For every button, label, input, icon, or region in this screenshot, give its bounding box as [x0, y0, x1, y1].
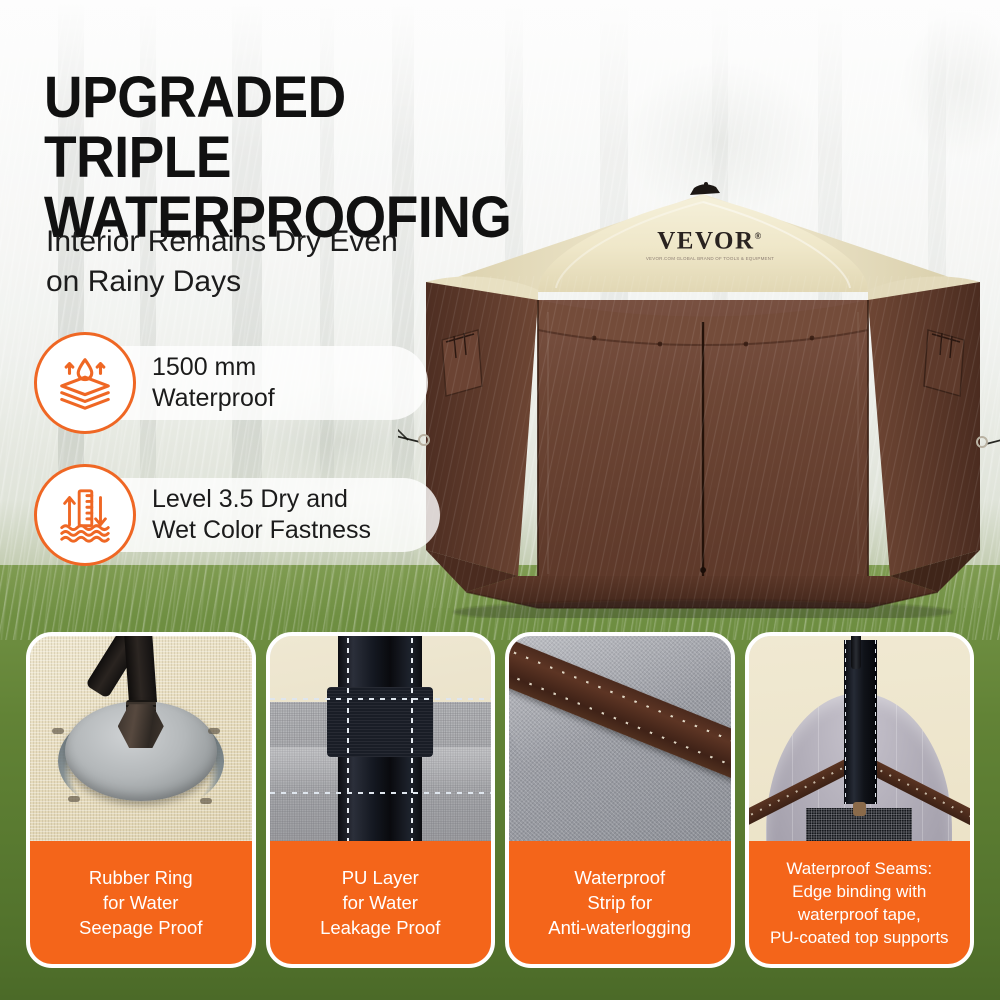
stitch-seam-horizontal	[270, 792, 492, 794]
detail-panel: PU Layer for Water Leakage Proof	[266, 632, 496, 968]
panel-1-caption-line-1: Rubber Ring	[79, 865, 202, 890]
badge-1-line-1: 1500 mm	[152, 352, 275, 383]
page-subtitle: Interior Remains Dry Even on Rainy Days	[46, 222, 466, 302]
panel-3-caption-line-2: Strip for	[548, 890, 691, 915]
marketing-image: VEVOR® VEVOR.COM GLOBAL BRAND OF TOOLS &…	[0, 0, 1000, 1000]
panel-3-caption-line-1: Waterproof	[548, 865, 691, 890]
sleeve-stitch	[875, 640, 877, 804]
detail-panel-caption: PU Layer for Water Leakage Proof	[270, 841, 492, 964]
detail-panel-caption: Waterproof Seams: Edge binding with wate…	[749, 841, 971, 964]
detail-panel-caption: Rubber Ring for Water Seepage Proof	[30, 841, 252, 964]
feature-badge-color-fastness-text: Level 3.5 Dry and Wet Color Fastness	[152, 484, 371, 546]
panel-4-caption-line-1: Waterproof Seams:	[770, 857, 949, 880]
headline-line-1: UPGRADED TRIPLE	[44, 68, 541, 188]
subtitle-line-2: on Rainy Days	[46, 262, 466, 302]
fabric-stitch	[208, 728, 220, 734]
panel-2-caption-line-1: PU Layer	[320, 865, 440, 890]
panel-1-caption-line-3: Seepage Proof	[79, 915, 202, 940]
panel-1-caption-line-2: for Water	[79, 890, 202, 915]
waterproof-strip-photo	[509, 636, 731, 841]
stitch-seam	[347, 636, 349, 841]
badge-1-line-2: Waterproof	[152, 383, 275, 414]
detail-panel: Rubber Ring for Water Seepage Proof	[26, 632, 256, 968]
detail-panel-caption: Waterproof Strip for Anti-waterlogging	[509, 841, 731, 964]
page-title: UPGRADED TRIPLE WATERPROOFING	[44, 68, 584, 248]
panel-2-caption-line-2: for Water	[320, 890, 440, 915]
rubber-ring-grommet-photo	[30, 636, 252, 841]
sleeve-stitch	[845, 640, 847, 804]
badge-2-line-2: Wet Color Fastness	[152, 515, 371, 546]
tent-pole-top	[851, 636, 861, 669]
panel-2-caption-line-3: Leakage Proof	[320, 915, 440, 940]
feature-badge-waterproof: 1500 mm Waterproof	[48, 346, 428, 420]
feature-badge-waterproof-text: 1500 mm Waterproof	[152, 352, 275, 414]
color-fastness-gauge-icon	[34, 464, 136, 566]
panel-4-caption-line-4: PU-coated top supports	[770, 926, 949, 949]
panel-4-caption-line-3: waterproof tape,	[770, 903, 949, 926]
waterproof-layers-icon	[34, 332, 136, 434]
detail-panel-row: Rubber Ring for Water Seepage Proof	[26, 632, 974, 968]
stitch-seam	[411, 636, 413, 841]
feature-badge-color-fastness: Level 3.5 Dry and Wet Color Fastness	[48, 478, 440, 552]
fabric-stitch	[200, 798, 212, 804]
badge-2-line-1: Level 3.5 Dry and	[152, 484, 371, 515]
pu-layer-pole-sleeve-photo	[270, 636, 492, 841]
panel-4-caption-line-2: Edge binding with	[770, 880, 949, 903]
detail-panel: Waterproof Seams: Edge binding with wate…	[745, 632, 975, 968]
panel-3-caption-line-3: Anti-waterlogging	[548, 915, 691, 940]
stitch-seam-horizontal	[270, 698, 492, 700]
center-hub	[853, 802, 866, 816]
fabric-stitch	[68, 796, 80, 802]
subtitle-line-1: Interior Remains Dry Even	[46, 222, 466, 262]
detail-panel: Waterproof Strip for Anti-waterlogging	[505, 632, 735, 968]
fabric-stitch	[52, 728, 64, 734]
waterproof-seams-apex-photo	[749, 636, 971, 841]
